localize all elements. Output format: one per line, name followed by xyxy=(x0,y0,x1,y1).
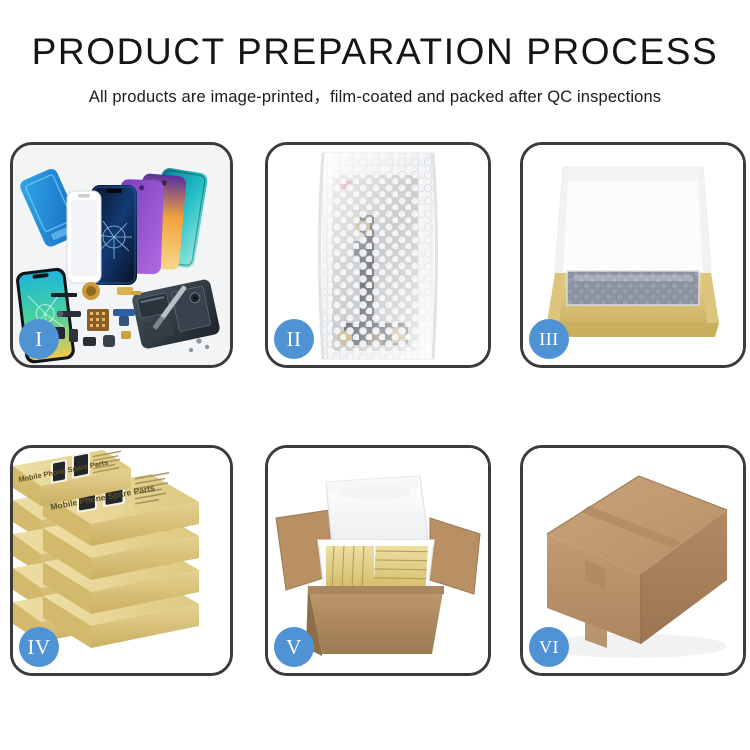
process-step-panel-2: II xyxy=(265,142,491,368)
step-badge-1: I xyxy=(19,319,59,359)
step-badge-6: VI xyxy=(529,627,569,667)
page-subtitle: All products are image-printed，film-coat… xyxy=(0,72,750,107)
process-step-panel-4: Mobile Phone Spare Parts xyxy=(10,445,233,676)
step-badge-2: II xyxy=(274,319,314,359)
step-badge-3: III xyxy=(529,319,569,359)
step-badge-4: IV xyxy=(19,627,59,667)
process-step-panel-5: V xyxy=(265,445,491,676)
step-badge-5: V xyxy=(274,627,314,667)
process-step-grid: I xyxy=(10,142,746,676)
process-step-panel-6: VI xyxy=(520,445,746,676)
process-step-panel-3: III xyxy=(520,142,746,368)
process-step-panel-1: I xyxy=(10,142,233,368)
page-title: PRODUCT PREPARATION PROCESS xyxy=(0,0,750,72)
page-header: PRODUCT PREPARATION PROCESS All products… xyxy=(0,0,750,107)
